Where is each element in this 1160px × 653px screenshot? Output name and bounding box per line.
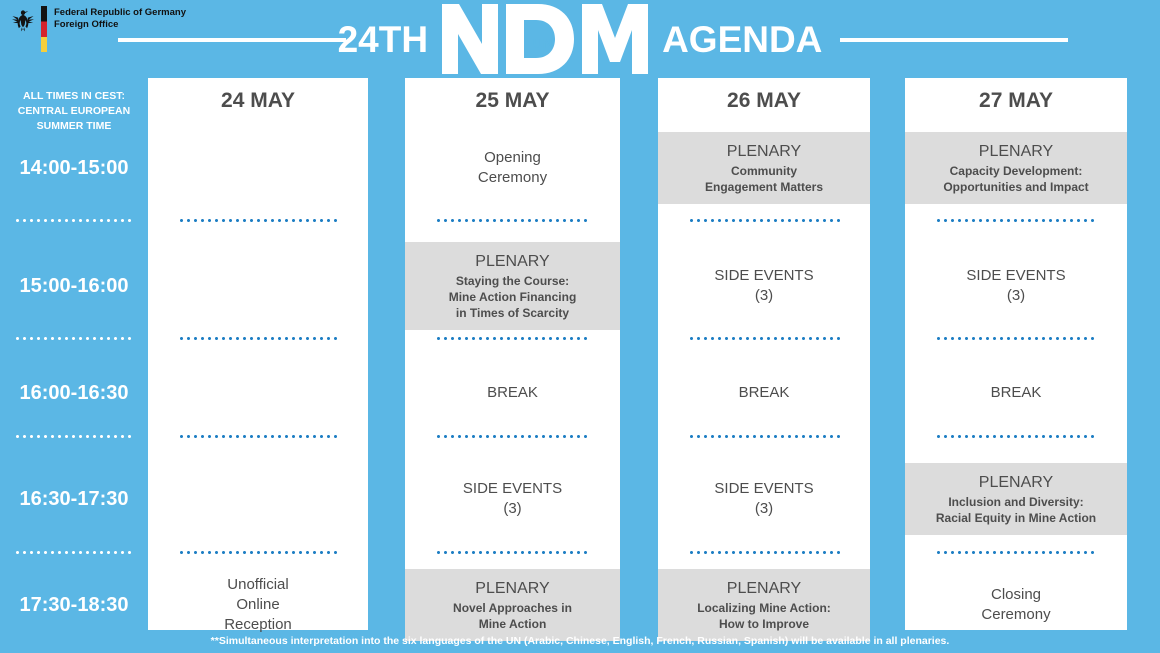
session-subtitle: Novel Approaches inMine Action (411, 600, 614, 632)
agenda-cell[interactable]: PLENARYInclusion and Diversity:Racial Eq… (905, 450, 1127, 548)
session-title: UnofficialOnlineReception (154, 575, 362, 635)
session-subtitle: Staying the Course:Mine Action Financing… (411, 273, 614, 321)
time-slot: 16:00-16:30 (0, 354, 148, 432)
time-separator (14, 551, 134, 554)
cell-separator (688, 551, 840, 554)
session-title: SIDE EVENTS(3) (664, 266, 864, 306)
plenary-session-box: PLENARYNovel Approaches inMine Action (405, 569, 620, 641)
agenda-cell[interactable]: PLENARYStaying the Course:Mine Action Fi… (405, 236, 620, 336)
cell-separator (935, 337, 1097, 340)
session-entry: BREAK (405, 379, 620, 407)
agenda-cell[interactable]: SIDE EVENTS(3) (658, 236, 870, 336)
cell-separator (178, 435, 338, 438)
agenda-cell[interactable]: SIDE EVENTS(3) (905, 236, 1127, 336)
session-entry: SIDE EVENTS(3) (905, 262, 1127, 310)
agenda-cell[interactable]: ClosingCeremony (905, 566, 1127, 644)
session-title: PLENARY (911, 141, 1121, 162)
session-title: BREAK (411, 383, 614, 403)
session-title: SIDE EVENTS(3) (911, 266, 1121, 306)
session-title: PLENARY (911, 472, 1121, 493)
cell-separator (435, 337, 590, 340)
cell-separator (435, 551, 590, 554)
agenda-cell[interactable]: BREAK (405, 354, 620, 432)
title-suffix: AGENDA (662, 21, 822, 58)
day-column-header: 25 MAY (405, 78, 620, 123)
agenda-cell[interactable]: SIDE EVENTS(3) (658, 450, 870, 548)
cell-separator (178, 337, 338, 340)
session-title: ClosingCeremony (911, 585, 1121, 625)
session-subtitle: Inclusion and Diversity:Racial Equity in… (911, 494, 1121, 526)
session-entry: SIDE EVENTS(3) (405, 475, 620, 523)
time-slot: 15:00-16:00 (0, 236, 148, 336)
cell-separator (688, 337, 840, 340)
day-column-header: 24 MAY (148, 78, 368, 123)
session-entry: OpeningCeremony (405, 144, 620, 192)
session-title: SIDE EVENTS(3) (411, 479, 614, 519)
ndm-logo-letters-icon (442, 0, 648, 78)
timezone-note-line1: ALL TIMES IN CEST: (8, 89, 140, 104)
day-column: 26 MAYPLENARYCommunityEngagement Matters… (658, 78, 870, 630)
session-title: BREAK (664, 383, 864, 403)
plenary-session-box: PLENARYInclusion and Diversity:Racial Eq… (905, 463, 1127, 535)
cell-separator (435, 435, 590, 438)
session-subtitle: Localizing Mine Action:How to Improve (664, 600, 864, 632)
cell-separator (935, 551, 1097, 554)
session-entry: UnofficialOnlineReception (148, 571, 368, 639)
page-title: 24TH UN AGENDA (0, 0, 1160, 78)
cell-separator (688, 219, 840, 222)
agenda-cell[interactable]: UnofficialOnlineReception (148, 566, 368, 644)
plenary-session-box: PLENARYLocalizing Mine Action:How to Imp… (658, 569, 870, 641)
day-column-header: 27 MAY (905, 78, 1127, 123)
agenda-cell[interactable]: BREAK (905, 354, 1127, 432)
session-title: BREAK (911, 383, 1121, 403)
day-column: 24 MAYUnofficialOnlineReception (148, 78, 368, 630)
time-column: ALL TIMES IN CEST: CENTRAL EUROPEAN SUMM… (0, 78, 148, 630)
agenda-cell[interactable]: BREAK (658, 354, 870, 432)
day-column-header: 26 MAY (658, 78, 870, 123)
session-entry: BREAK (905, 379, 1127, 407)
session-title: PLENARY (664, 141, 864, 162)
session-entry: ClosingCeremony (905, 581, 1127, 629)
session-title: PLENARY (664, 578, 864, 599)
session-entry: SIDE EVENTS(3) (658, 475, 870, 523)
session-subtitle: CommunityEngagement Matters (664, 163, 864, 195)
session-subtitle: Capacity Development:Opportunities and I… (911, 163, 1121, 195)
cell-separator (688, 435, 840, 438)
session-title: SIDE EVENTS(3) (664, 479, 864, 519)
day-column: 25 MAYOpeningCeremonyPLENARYStaying the … (405, 78, 620, 630)
cell-separator (935, 219, 1097, 222)
agenda-cell[interactable]: PLENARYLocalizing Mine Action:How to Imp… (658, 566, 870, 644)
agenda-grid: ALL TIMES IN CEST: CENTRAL EUROPEAN SUMM… (0, 78, 1160, 630)
agenda-cell[interactable]: PLENARYNovel Approaches inMine Action (405, 566, 620, 644)
cell-separator (178, 219, 338, 222)
footnote: **Simultaneous interpretation into the s… (0, 634, 1160, 648)
plenary-session-box: PLENARYCapacity Development:Opportunitie… (905, 132, 1127, 204)
agenda-cell[interactable]: PLENARYCommunityEngagement Matters (658, 118, 870, 218)
plenary-session-box: PLENARYCommunityEngagement Matters (658, 132, 870, 204)
cell-separator (178, 551, 338, 554)
session-entry: SIDE EVENTS(3) (658, 262, 870, 310)
cell-separator (935, 435, 1097, 438)
time-separator (14, 435, 134, 438)
agenda-cell[interactable]: SIDE EVENTS(3) (405, 450, 620, 548)
session-title: OpeningCeremony (411, 148, 614, 188)
timezone-note-line2: CENTRAL EUROPEAN (8, 104, 140, 119)
time-slot: 17:30-18:30 (0, 566, 148, 644)
time-slot: 16:30-17:30 (0, 450, 148, 548)
time-slot: 14:00-15:00 (0, 118, 148, 218)
ndm-logo: UN (442, 0, 648, 78)
cell-separator (435, 219, 590, 222)
day-column: 27 MAYPLENARYCapacity Development:Opport… (905, 78, 1127, 630)
title-prefix: 24TH (338, 21, 428, 58)
agenda-cell[interactable]: PLENARYCapacity Development:Opportunitie… (905, 118, 1127, 218)
plenary-session-box: PLENARYStaying the Course:Mine Action Fi… (405, 242, 620, 330)
page-header: Federal Republic of Germany Foreign Offi… (0, 0, 1160, 78)
session-entry: BREAK (658, 379, 870, 407)
agenda-cell[interactable]: OpeningCeremony (405, 118, 620, 218)
time-separator (14, 337, 134, 340)
session-title: PLENARY (411, 251, 614, 272)
session-title: PLENARY (411, 578, 614, 599)
time-separator (14, 219, 134, 222)
